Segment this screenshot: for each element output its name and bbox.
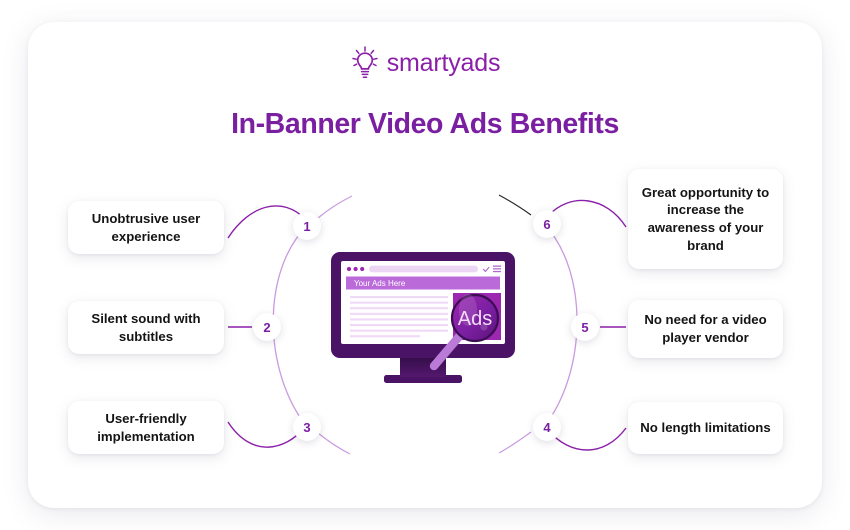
brand-name: smartyads [387, 51, 501, 76]
benefit-card-2[interactable]: Silent sound with subtitles [68, 301, 224, 354]
benefit-card-6-text: Great opportunity to increase the awaren… [638, 184, 773, 254]
brand-logo: smartyads [0, 46, 850, 80]
page-title: In-Banner Video Ads Benefits [0, 108, 850, 141]
menu-icon [493, 266, 501, 273]
step-badge-4[interactable]: 4 [533, 413, 561, 441]
benefit-card-1[interactable]: Unobtrusive user experience [68, 201, 224, 254]
lightbulb-icon [350, 46, 380, 80]
benefit-card-4-text: No length limitations [640, 419, 770, 437]
benefit-card-6[interactable]: Great opportunity to increase the awaren… [628, 169, 783, 269]
benefit-card-5[interactable]: No need for a video player vendor [628, 300, 783, 358]
infographic-canvas: smartyads In-Banner Video Ads Benefits U… [0, 0, 850, 530]
benefit-card-4[interactable]: No length limitations [628, 402, 783, 454]
step-badge-5[interactable]: 5 [571, 313, 599, 341]
step-badge-6[interactable]: 6 [533, 210, 561, 238]
browser-dot [354, 267, 358, 271]
ad-label-text: Ads [458, 308, 492, 330]
browser-address-bar [369, 266, 478, 273]
benefit-card-5-text: No need for a video player vendor [638, 311, 773, 346]
browser-dot [347, 267, 351, 271]
browser-dot [360, 267, 364, 271]
benefit-card-1-text: Unobtrusive user experience [78, 210, 214, 245]
benefit-card-3[interactable]: User-friendly implementation [68, 401, 224, 454]
benefit-card-3-text: User-friendly implementation [78, 410, 214, 445]
benefit-card-2-text: Silent sound with subtitles [78, 310, 214, 345]
step-badge-1[interactable]: 1 [293, 212, 321, 240]
monitor-illustration: Your Ads Here Ads [323, 248, 523, 413]
step-badge-2[interactable]: 2 [253, 313, 281, 341]
ad-banner-text: Your Ads Here [354, 279, 406, 288]
step-badge-3[interactable]: 3 [293, 413, 321, 441]
